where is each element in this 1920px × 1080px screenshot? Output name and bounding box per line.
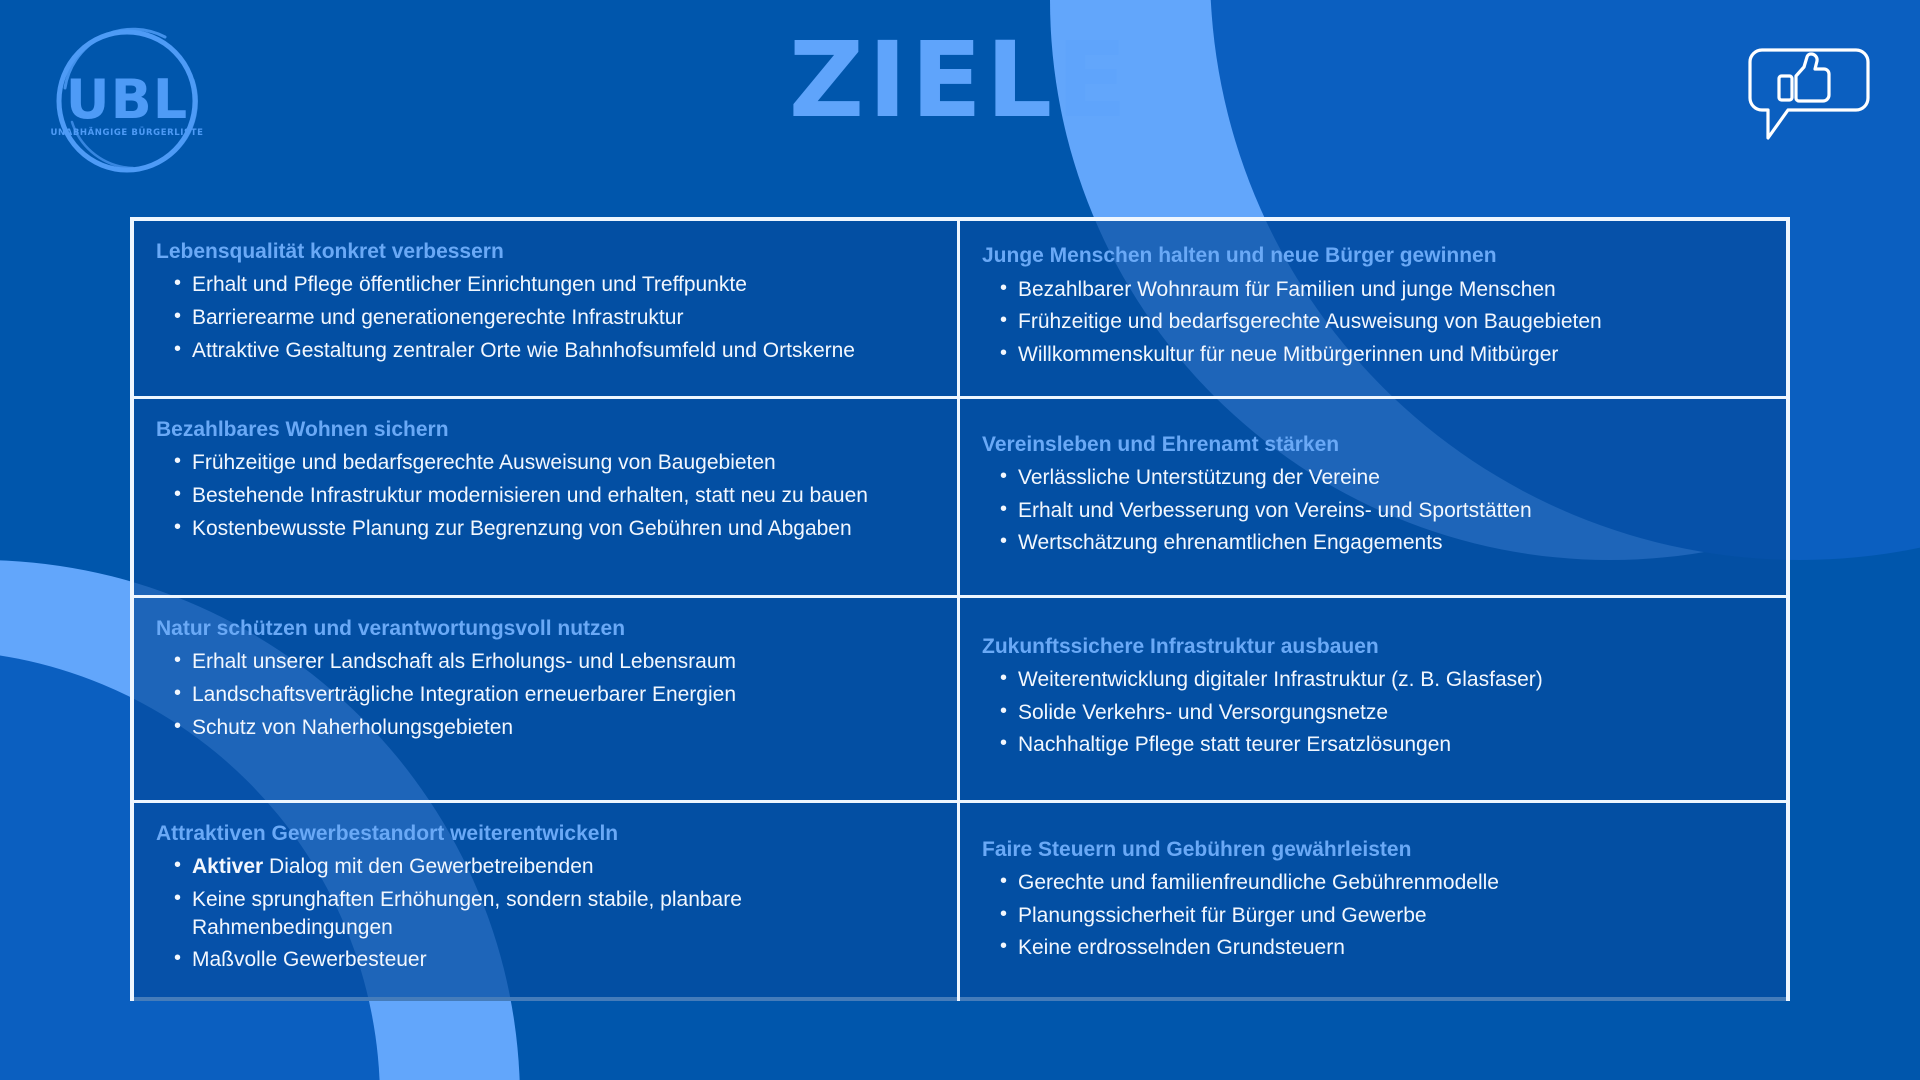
goal-card-list: Frühzeitige und bedarfsgerechte Ausweisu… bbox=[156, 449, 931, 547]
goal-card-title: Vereinsleben und Ehrenamt stärken bbox=[982, 432, 1760, 458]
goal-list-item: Landschaftsverträgliche Integration erne… bbox=[156, 681, 931, 709]
goal-list-item-text: Dialog mit den Gewerbetreibenden bbox=[263, 855, 593, 878]
goal-list-item: Maßvolle Gewerbesteuer bbox=[156, 946, 931, 974]
goal-card-title: Junge Menschen halten und neue Bürger ge… bbox=[982, 243, 1760, 269]
goal-list-item: Erhalt und Pflege öffentlicher Einrichtu… bbox=[156, 271, 931, 299]
goal-list-item: Keine sprunghaften Erhöhungen, sondern s… bbox=[156, 886, 931, 941]
goal-card-list: Erhalt und Pflege öffentlicher Einrichtu… bbox=[156, 271, 931, 369]
goal-card: Attraktiven Gewerbestandort weiterentwic… bbox=[134, 803, 960, 1001]
goal-list-item: Kostenbewusste Planung zur Begrenzung vo… bbox=[156, 515, 931, 543]
goal-list-item: Bezahlbarer Wohnraum für Familien und ju… bbox=[982, 276, 1760, 304]
goal-list-item: Erhalt und Verbesserung von Vereins- und… bbox=[982, 497, 1760, 525]
goal-card-list: Aktiver Dialog mit den Gewerbetreibenden… bbox=[156, 853, 931, 979]
goal-card-title: Faire Steuern und Gebühren gewährleisten bbox=[982, 837, 1760, 863]
goal-list-item: Nachhaltige Pflege statt teurer Ersatzlö… bbox=[982, 731, 1760, 759]
goal-card: Faire Steuern und Gebühren gewährleisten… bbox=[960, 803, 1786, 1001]
goal-card: Vereinsleben und Ehrenamt stärkenVerläss… bbox=[960, 399, 1786, 598]
slide-canvas: UBL UNABHÄNGIGE BÜRGERLISTE ZIELE Lebens… bbox=[0, 0, 1920, 1080]
goal-card-list: Weiterentwicklung digitaler Infrastruktu… bbox=[982, 666, 1760, 764]
goal-card-list: Erhalt unserer Landschaft als Erholungs-… bbox=[156, 648, 931, 746]
goal-card: Natur schützen und verantwortungsvoll nu… bbox=[134, 598, 960, 803]
goal-list-item: Weiterentwicklung digitaler Infrastruktu… bbox=[982, 666, 1760, 694]
goal-list-item: Keine erdrosselnden Grundsteuern bbox=[982, 934, 1760, 962]
goal-list-item: Willkommenskultur für neue Mitbürgerinne… bbox=[982, 341, 1760, 369]
goal-list-item: Barrierearme und generationengerechte In… bbox=[156, 304, 931, 332]
goal-list-item-emphasis: Aktiver bbox=[192, 855, 263, 878]
goal-list-item: Gerechte und familienfreundliche Gebühre… bbox=[982, 869, 1760, 897]
goal-card-list: Gerechte und familienfreundliche Gebühre… bbox=[982, 869, 1760, 967]
goals-table: Lebensqualität konkret verbessernErhalt … bbox=[130, 217, 1790, 1001]
goal-list-item: Aktiver Dialog mit den Gewerbetreibenden bbox=[156, 853, 931, 881]
goal-list-item: Schutz von Naherholungsgebieten bbox=[156, 714, 931, 742]
goal-list-item-text: Keine sprunghaften Erhöhungen, sondern s… bbox=[192, 888, 742, 939]
goal-list-item: Erhalt unserer Landschaft als Erholungs-… bbox=[156, 648, 931, 676]
goal-card-title: Zukunftssichere Infrastruktur ausbauen bbox=[982, 634, 1760, 660]
goal-list-item: Verlässliche Unterstützung der Vereine bbox=[982, 464, 1760, 492]
goal-list-item: Frühzeitige und bedarfsgerechte Ausweisu… bbox=[156, 449, 931, 477]
goal-card: Lebensqualität konkret verbessernErhalt … bbox=[134, 221, 960, 399]
goal-card-title: Lebensqualität konkret verbessern bbox=[156, 239, 931, 265]
goal-list-item: Solide Verkehrs- und Versorgungsnetze bbox=[982, 699, 1760, 727]
goal-card-title: Attraktiven Gewerbestandort weiterentwic… bbox=[156, 821, 931, 847]
slide-header: UBL UNABHÄNGIGE BÜRGERLISTE ZIELE bbox=[0, 0, 1920, 215]
goal-card: Junge Menschen halten und neue Bürger ge… bbox=[960, 221, 1786, 399]
goal-card-list: Bezahlbarer Wohnraum für Familien und ju… bbox=[982, 276, 1760, 374]
goal-list-item: Wertschätzung ehrenamtlichen Engagements bbox=[982, 529, 1760, 557]
goal-list-item: Bestehende Infrastruktur modernisieren u… bbox=[156, 482, 931, 510]
goal-list-item: Frühzeitige und bedarfsgerechte Ausweisu… bbox=[982, 308, 1760, 336]
goal-card: Bezahlbares Wohnen sichernFrühzeitige un… bbox=[134, 399, 960, 598]
goal-list-item: Attraktive Gestaltung zentraler Orte wie… bbox=[156, 337, 931, 365]
page-title: ZIELE bbox=[0, 28, 1920, 132]
goal-card-title: Bezahlbares Wohnen sichern bbox=[156, 417, 931, 443]
goal-list-item: Planungssicherheit für Bürger und Gewerb… bbox=[982, 902, 1760, 930]
goal-card-list: Verlässliche Unterstützung der VereineEr… bbox=[982, 464, 1760, 562]
goal-card-title: Natur schützen und verantwortungsvoll nu… bbox=[156, 616, 931, 642]
goal-list-item-text: Maßvolle Gewerbesteuer bbox=[192, 948, 427, 971]
thumbs-up-speech-bubble-icon bbox=[1748, 40, 1870, 148]
goal-card: Zukunftssichere Infrastruktur ausbauenWe… bbox=[960, 598, 1786, 803]
